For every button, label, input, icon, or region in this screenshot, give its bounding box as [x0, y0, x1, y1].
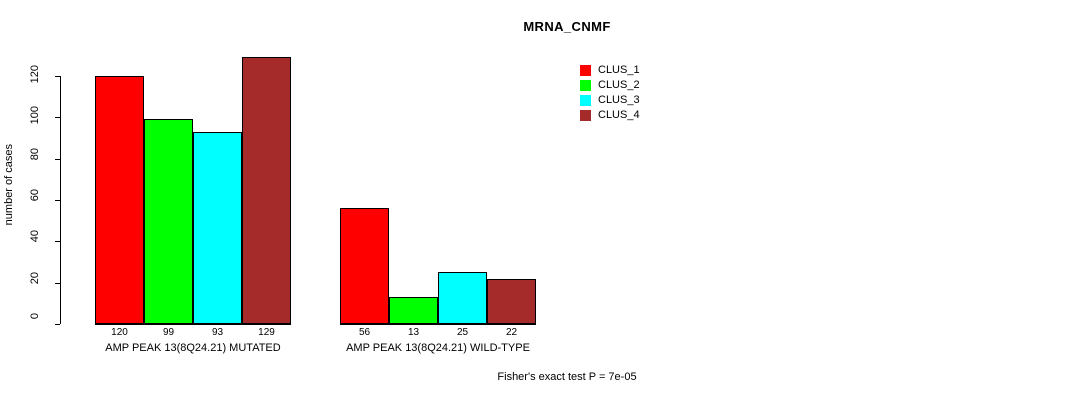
y-axis-tick — [55, 117, 60, 118]
bar-value-label: 25 — [438, 328, 487, 338]
y-axis-title-text: number of cases — [3, 144, 15, 225]
legend-item-label: CLUS_1 — [598, 65, 640, 76]
legend-item-label: CLUS_4 — [598, 110, 640, 121]
legend-item[interactable]: CLUS_1 — [580, 63, 640, 78]
bar-group — [340, 45, 536, 324]
chart-title-text: MRNA_CNMF — [523, 19, 610, 34]
bar-group — [95, 45, 291, 324]
y-axis-line — [60, 76, 61, 324]
footnote-text: Fisher's exact test P = 7e-05 — [497, 371, 636, 383]
bar[interactable] — [95, 76, 144, 324]
y-axis-tick-label: 60 — [30, 189, 52, 201]
y-axis-tick — [55, 76, 60, 77]
y-axis-tick — [55, 324, 60, 325]
y-axis-tick — [55, 283, 60, 284]
bar[interactable] — [340, 208, 389, 324]
legend-item[interactable]: CLUS_3 — [580, 93, 640, 108]
group-baseline — [95, 324, 291, 325]
group-baseline — [340, 324, 536, 325]
plot-area: 020406080100120 120999312956132522 AMP P… — [60, 45, 560, 324]
y-axis-tick — [55, 200, 60, 201]
y-axis-tick — [55, 241, 60, 242]
legend-item[interactable]: CLUS_4 — [580, 108, 640, 123]
group-label: AMP PEAK 13(8Q24.21) WILD-TYPE — [280, 343, 596, 354]
legend-item-label: CLUS_2 — [598, 80, 640, 91]
y-axis-tick-label: 40 — [30, 230, 52, 242]
bar-value-label: 120 — [95, 328, 144, 338]
y-axis-tick-label: 100 — [30, 106, 52, 124]
bar[interactable] — [144, 119, 193, 324]
bar-value-label: 93 — [193, 328, 242, 338]
chart-title: MRNA_CNMF — [0, 19, 1090, 34]
legend-swatch-icon — [580, 65, 591, 76]
legend-item[interactable]: CLUS_2 — [580, 78, 640, 93]
y-axis-tick-label: 0 — [30, 313, 52, 319]
bar[interactable] — [242, 57, 291, 324]
bar-value-label: 22 — [487, 328, 536, 338]
bar-value-label: 99 — [144, 328, 193, 338]
bar[interactable] — [487, 279, 536, 324]
legend-item-label: CLUS_3 — [598, 95, 640, 106]
bar[interactable] — [389, 297, 438, 324]
legend: CLUS_1CLUS_2CLUS_3CLUS_4 — [580, 63, 640, 123]
y-axis-tick — [55, 159, 60, 160]
legend-swatch-icon — [580, 110, 591, 121]
legend-swatch-icon — [580, 80, 591, 91]
bar-chart-figure: MRNA_CNMF number of cases 02040608010012… — [0, 0, 1090, 400]
footnote: Fisher's exact test P = 7e-05 — [0, 371, 1090, 383]
y-axis-tick-label: 80 — [30, 148, 52, 160]
legend-swatch-icon — [580, 95, 591, 106]
y-axis-title: number of cases — [0, 45, 18, 324]
y-axis-tick-label: 20 — [30, 272, 52, 284]
y-axis-tick-label: 120 — [30, 65, 52, 83]
bar-value-label: 56 — [340, 328, 389, 338]
bar-value-label: 13 — [389, 328, 438, 338]
bar[interactable] — [438, 272, 487, 324]
bar[interactable] — [193, 132, 242, 324]
bar-value-label: 129 — [242, 328, 291, 338]
